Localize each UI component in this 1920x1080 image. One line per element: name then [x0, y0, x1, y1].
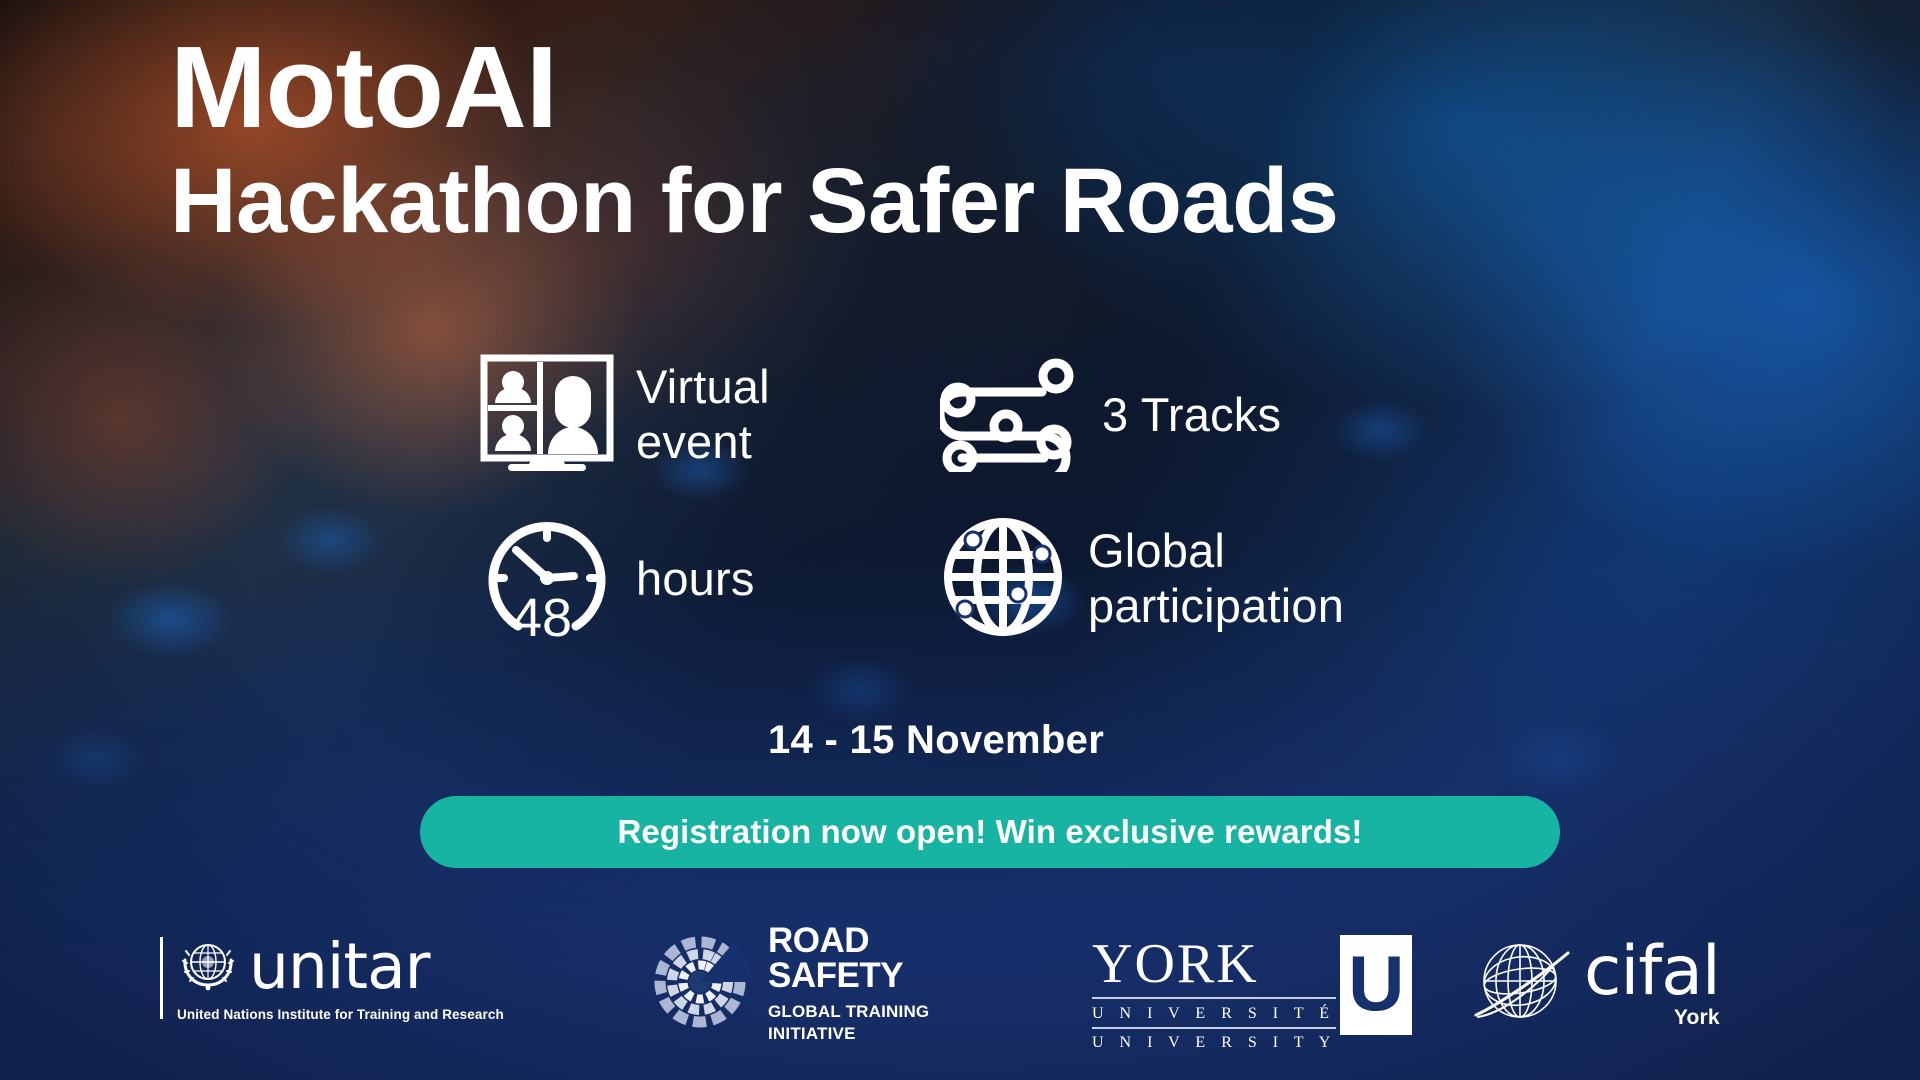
feature-label-line2: participation	[1088, 579, 1344, 632]
feature-label-line1: Virtual	[636, 360, 770, 413]
svg-text:48: 48	[512, 588, 572, 640]
logo-york-university: YORK U N I V E R S I T É U N I V E R S I…	[1092, 935, 1412, 1054]
logo-unitar: unitar United Nations Institute for Trai…	[160, 933, 504, 1022]
feature-global-label: Global participation	[1088, 524, 1344, 633]
feature-virtual-event: Virtual event	[480, 340, 920, 490]
feature-duration: 48 hours	[480, 504, 920, 654]
registration-cta-banner[interactable]: Registration now open! Win exclusive rew…	[420, 796, 1560, 868]
york-divider-bottom	[1092, 1027, 1336, 1029]
event-date: 14 - 15 November	[768, 718, 1104, 763]
york-u-letter: U	[1348, 944, 1404, 1022]
radial-mosaic-icon	[648, 930, 752, 1039]
road-safety-line3: GLOBAL TRAINING	[768, 1001, 929, 1023]
cifal-sub: York	[1674, 1006, 1720, 1030]
feature-global: Global participation	[940, 504, 1400, 654]
york-divider-top	[1092, 997, 1336, 999]
headline-block: MotoAI Hackathon for Safer Roads	[170, 28, 1338, 252]
feature-duration-label: hours	[636, 552, 755, 607]
logo-road-safety: ROAD SAFETY GLOBAL TRAINING INITIATIVE	[648, 923, 929, 1045]
unitar-tagline: United Nations Institute for Training an…	[177, 1007, 504, 1022]
unitar-wordmark: unitar	[249, 937, 430, 997]
branching-track-icon	[940, 354, 1080, 477]
feature-list: Virtual event	[480, 340, 1400, 654]
wireframe-globe-icon	[1470, 931, 1574, 1040]
video-conference-icon	[480, 354, 614, 477]
road-safety-line4: INITIATIVE	[768, 1023, 929, 1045]
unitar-divider	[160, 937, 163, 1019]
feature-tracks: 3 Tracks	[940, 340, 1400, 490]
road-safety-line1: ROAD	[768, 923, 929, 958]
feature-label-line2: event	[636, 415, 752, 468]
un-emblem-icon	[177, 933, 239, 1000]
logo-cifal-york: cifal York	[1470, 931, 1720, 1040]
york-sub-fr: U N I V E R S I T É	[1092, 1003, 1336, 1025]
york-u-mark: U	[1340, 935, 1412, 1035]
york-wordmark: YORK	[1092, 937, 1336, 992]
feature-label-line1: Global	[1088, 524, 1225, 577]
poster-canvas: MotoAI Hackathon for Safer Roads	[0, 0, 1920, 1080]
road-safety-line2: SAFETY	[768, 958, 929, 993]
feature-virtual-event-label: Virtual event	[636, 360, 770, 469]
globe-network-icon	[940, 514, 1066, 645]
page-title: MotoAI	[170, 28, 1338, 146]
feature-tracks-label: 3 Tracks	[1102, 388, 1281, 443]
cifal-wordmark: cifal	[1584, 941, 1720, 1004]
registration-cta-label: Registration now open! Win exclusive rew…	[617, 813, 1362, 851]
clock-48-hours-icon: 48	[480, 514, 614, 645]
york-sub-en: U N I V E R S I T Y	[1092, 1032, 1336, 1054]
partner-logo-bar: unitar United Nations Institute for Trai…	[0, 915, 1920, 1055]
page-subtitle: Hackathon for Safer Roads	[170, 152, 1338, 251]
